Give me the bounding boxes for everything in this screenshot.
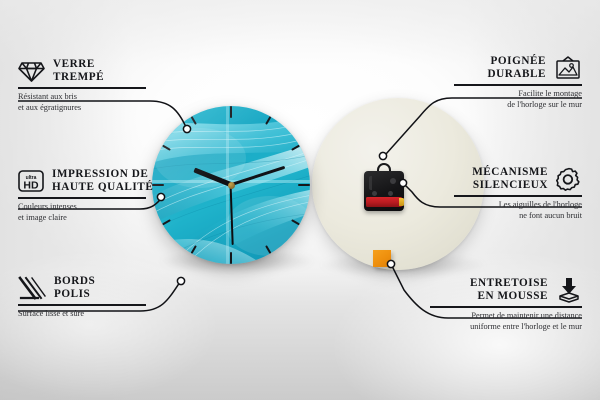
callout-rule bbox=[454, 84, 582, 85]
callout-title: MÉCANISME SILENCIEUX bbox=[472, 166, 548, 192]
mechanism-dot-a bbox=[390, 178, 396, 184]
callout-mecanisme-silencieux[interactable]: MÉCANISME SILENCIEUX Les aiguilles de l'… bbox=[454, 166, 582, 221]
foam-spacer-pad bbox=[373, 250, 391, 267]
callout-description: Couleurs intenses et image claire bbox=[18, 202, 146, 223]
ultra-hd-icon: ultra HD bbox=[18, 169, 44, 193]
callout-header: ENTRETOISE EN MOUSSE bbox=[430, 277, 582, 303]
mechanism-dot-c bbox=[388, 191, 393, 196]
callout-rule bbox=[18, 87, 146, 88]
callout-entretoise-en-mousse[interactable]: ENTRETOISE EN MOUSSE Permet de maintenir… bbox=[430, 277, 582, 332]
mechanism-dot-b bbox=[372, 191, 377, 196]
callout-header: VERRE TREMPÉ bbox=[18, 58, 146, 84]
glass-reflection bbox=[152, 106, 310, 264]
callout-header: POIGNÉE DURABLE bbox=[454, 55, 582, 81]
picture-frame-hanger-icon bbox=[554, 56, 582, 81]
callout-header: ultra HD IMPRESSION DE HAUTE QUALITÉ bbox=[18, 168, 146, 194]
polished-edges-icon bbox=[18, 276, 46, 300]
callout-rule bbox=[430, 306, 582, 307]
callout-description: Résistant aux bris et aux égratignures bbox=[18, 92, 146, 113]
callout-rule bbox=[454, 195, 582, 196]
foam-spacer-arrow-icon bbox=[556, 277, 582, 303]
callout-description: Facilite le montage de l'horloge sur le … bbox=[454, 89, 582, 110]
mechanism-grill bbox=[369, 176, 387, 190]
callout-title: POIGNÉE DURABLE bbox=[487, 55, 546, 81]
callout-title: ENTRETOISE EN MOUSSE bbox=[470, 277, 548, 303]
diamond-icon bbox=[18, 59, 45, 83]
callout-title: BORDS POLIS bbox=[54, 275, 95, 301]
callout-header: BORDS POLIS bbox=[18, 275, 146, 301]
background-highlight-left bbox=[0, 250, 220, 400]
callout-title: VERRE TREMPÉ bbox=[53, 58, 104, 84]
callout-impression-haute-qualite[interactable]: ultra HD IMPRESSION DE HAUTE QUALITÉ Cou… bbox=[18, 168, 146, 223]
callout-bords-polis[interactable]: BORDS POLIS Surface lisse et sûre bbox=[18, 275, 146, 320]
callout-description: Surface lisse et sûre bbox=[18, 309, 146, 319]
clock-face-view bbox=[152, 106, 310, 264]
callout-header: MÉCANISME SILENCIEUX bbox=[454, 166, 582, 192]
callout-description: Permet de maintenir une distance uniform… bbox=[430, 311, 582, 332]
battery-positive-terminal bbox=[399, 198, 404, 206]
callout-rule bbox=[18, 304, 146, 305]
callout-poignee-durable[interactable]: POIGNÉE DURABLE Facilite le montage de l… bbox=[454, 55, 582, 110]
callout-title: IMPRESSION DE HAUTE QUALITÉ bbox=[52, 168, 153, 194]
infographic-canvas: VERRE TREMPÉ Résistant aux bris et aux é… bbox=[0, 0, 600, 400]
ultra-hd-large-label: HD bbox=[23, 180, 39, 192]
aa-battery bbox=[366, 197, 402, 207]
callout-verre-trempe[interactable]: VERRE TREMPÉ Résistant aux bris et aux é… bbox=[18, 58, 146, 113]
callout-rule bbox=[18, 197, 146, 198]
callout-description: Les aiguilles de l'horloge ne font aucun… bbox=[454, 200, 582, 221]
gear-icon bbox=[556, 167, 582, 192]
